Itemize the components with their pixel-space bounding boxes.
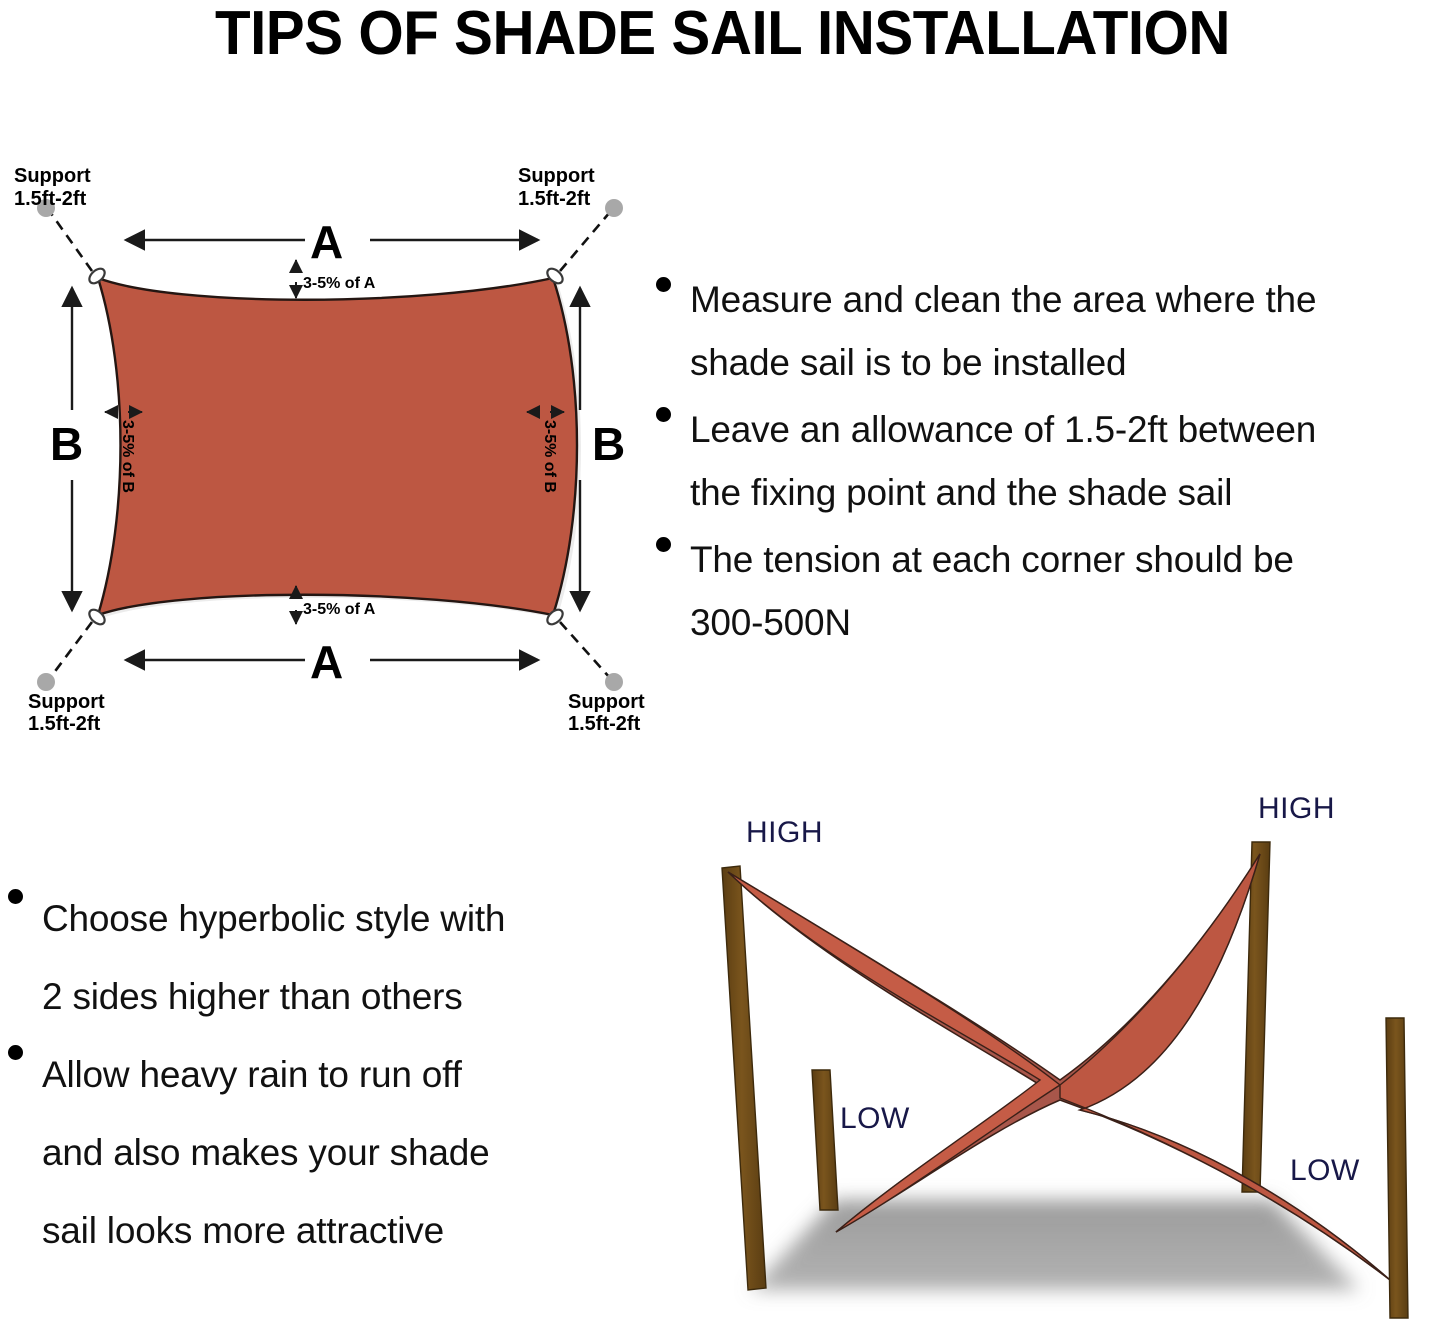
tip-line: the fixing point and the shade sail xyxy=(690,461,1445,524)
installation-tips-list: Measure and clean the area where the sha… xyxy=(648,268,1445,658)
support-label-line1: Support xyxy=(28,691,105,713)
support-label-line2: 1.5ft-2ft xyxy=(14,188,87,210)
curve-label-top: 3-5% of A xyxy=(303,275,376,292)
rectangular-sail-diagram: Support 1.5ft-2ft Support 1.5ft-2ft Supp… xyxy=(0,160,660,730)
bullet-icon xyxy=(656,407,671,422)
tip-line: Measure and clean the area where the xyxy=(690,268,1445,331)
label-low-left: LOW xyxy=(840,1102,910,1135)
shade-sail-surface-lower-left xyxy=(728,872,1060,1232)
support-label-bottom-right: Support 1.5ft-2ft xyxy=(568,691,645,730)
curve-label-right: 3-5% of B xyxy=(541,420,558,493)
support-label-top-right: Support 1.5ft-2ft xyxy=(518,165,595,210)
support-label-bottom-left: Support 1.5ft-2ft xyxy=(28,691,105,730)
label-low-right: LOW xyxy=(1290,1154,1360,1187)
support-label-line2: 1.5ft-2ft xyxy=(28,713,101,730)
dimension-letter-b-left: B xyxy=(50,418,83,470)
hyperbolic-tips-list: Choose hyperbolic style with 2 sides hig… xyxy=(0,880,640,1270)
tip-line: sail looks more attractive xyxy=(42,1192,640,1270)
dimension-letter-b-right: B xyxy=(592,418,625,470)
list-item: Measure and clean the area where the sha… xyxy=(648,268,1445,394)
post-high-left xyxy=(722,866,766,1290)
label-high-left: HIGH xyxy=(746,816,823,849)
support-label-line2: 1.5ft-2ft xyxy=(568,713,641,730)
support-label-line1: Support xyxy=(518,165,595,187)
list-item: The tension at each corner should be 300… xyxy=(648,528,1445,654)
tip-line: Leave an allowance of 1.5-2ft between xyxy=(690,398,1445,461)
bullet-icon xyxy=(8,889,23,904)
tip-line: Choose hyperbolic style with xyxy=(42,880,640,958)
support-label-line2: 1.5ft-2ft xyxy=(518,188,591,210)
tip-line: The tension at each corner should be xyxy=(690,528,1445,591)
dimension-letter-a-bottom: A xyxy=(310,636,343,688)
support-label-top-left: Support 1.5ft-2ft xyxy=(14,165,91,210)
tip-line: shade sail is to be installed xyxy=(690,331,1445,394)
curve-label-left: 3-5% of B xyxy=(119,420,136,493)
tip-line: and also makes your shade xyxy=(42,1114,640,1192)
ground-shadow xyxy=(750,1200,1360,1290)
shade-sail-body xyxy=(98,278,577,615)
post-low-right xyxy=(1386,1018,1408,1318)
curve-label-bottom: 3-5% of A xyxy=(303,601,376,618)
list-item: Choose hyperbolic style with 2 sides hig… xyxy=(0,880,640,1036)
support-label-line1: Support xyxy=(568,691,645,713)
list-item: Leave an allowance of 1.5-2ft between th… xyxy=(648,398,1445,524)
label-high-right: HIGH xyxy=(1258,792,1335,825)
page-title: TIPS OF SHADE SAIL INSTALLATION xyxy=(43,0,1401,64)
infographic-page: TIPS OF SHADE SAIL INSTALLATION xyxy=(0,0,1445,1319)
support-label-line1: Support xyxy=(14,165,91,187)
bullet-icon xyxy=(656,537,671,552)
tip-line: 2 sides higher than others xyxy=(42,958,640,1036)
hyperbolic-sail-illustration: HIGH HIGH LOW LOW xyxy=(660,780,1445,1319)
tip-line: Allow heavy rain to run off xyxy=(42,1036,640,1114)
bullet-icon xyxy=(656,277,671,292)
bullet-icon xyxy=(8,1045,23,1060)
dimension-letter-a-top: A xyxy=(310,216,343,268)
post-low-left xyxy=(812,1070,838,1210)
list-item: Allow heavy rain to run off and also mak… xyxy=(0,1036,640,1270)
tip-line: 300-500N xyxy=(690,591,1445,654)
